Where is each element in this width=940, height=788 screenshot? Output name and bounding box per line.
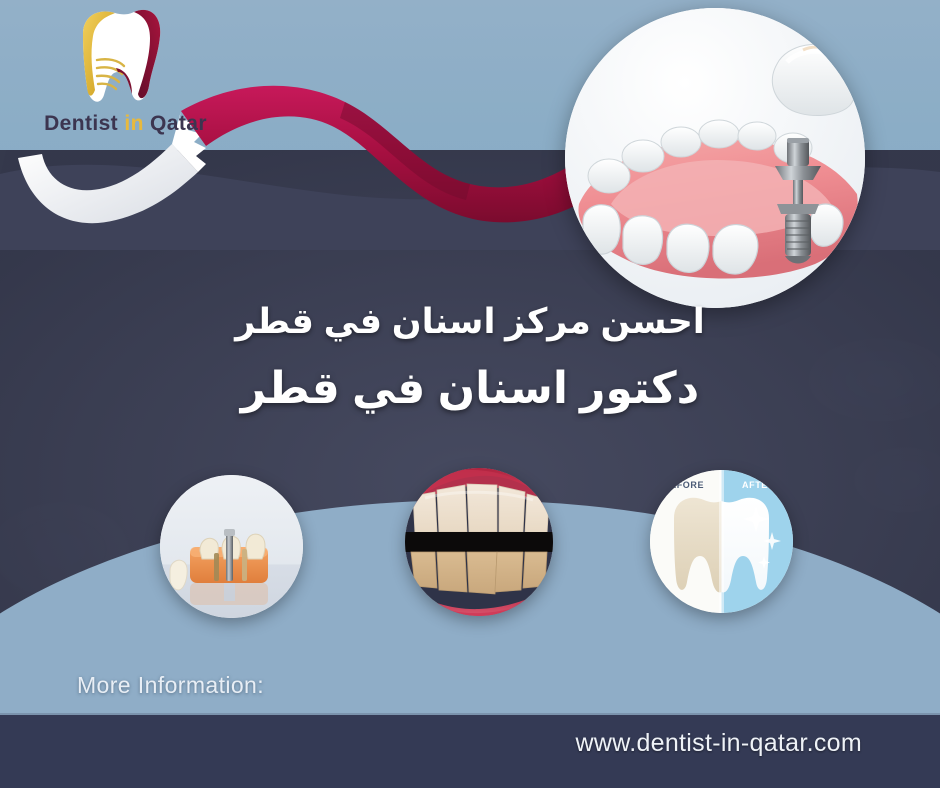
logo-wordmark: Dentist in Qatar [28, 112, 223, 136]
whitening-before-after-icon: BEFORE AFTER [650, 470, 793, 613]
headline-line-2: دكتور اسنان في قطر [0, 361, 940, 416]
teeth-closeup-photo [405, 468, 553, 616]
tooth-icon [70, 6, 166, 111]
website-url[interactable]: www.dentist-in-qatar.com [576, 729, 862, 758]
implant-model-photo [160, 475, 303, 618]
more-information-label: More Information: [77, 672, 264, 699]
logo-word-in: in [124, 112, 143, 135]
implant-model-graphic [160, 475, 303, 618]
dental-implant-jaw-illustration [565, 8, 865, 308]
implant-graphic [565, 8, 865, 308]
brand-logo[interactable]: Dentist in Qatar [20, 0, 220, 150]
teeth-closeup-graphic [405, 468, 553, 616]
before-label: BEFORE [663, 480, 704, 490]
logo-word-dentist: Dentist [44, 112, 118, 135]
headline-line-1: احسن مركز اسنان في قطر [0, 300, 940, 345]
poster-canvas: Dentist in Qatar [0, 0, 940, 788]
headline-block: احسن مركز اسنان في قطر دكتور اسنان في قط… [0, 300, 940, 416]
after-label: AFTER [742, 480, 775, 490]
logo-word-qatar: Qatar [150, 112, 207, 135]
whitening-graphic [650, 470, 793, 613]
